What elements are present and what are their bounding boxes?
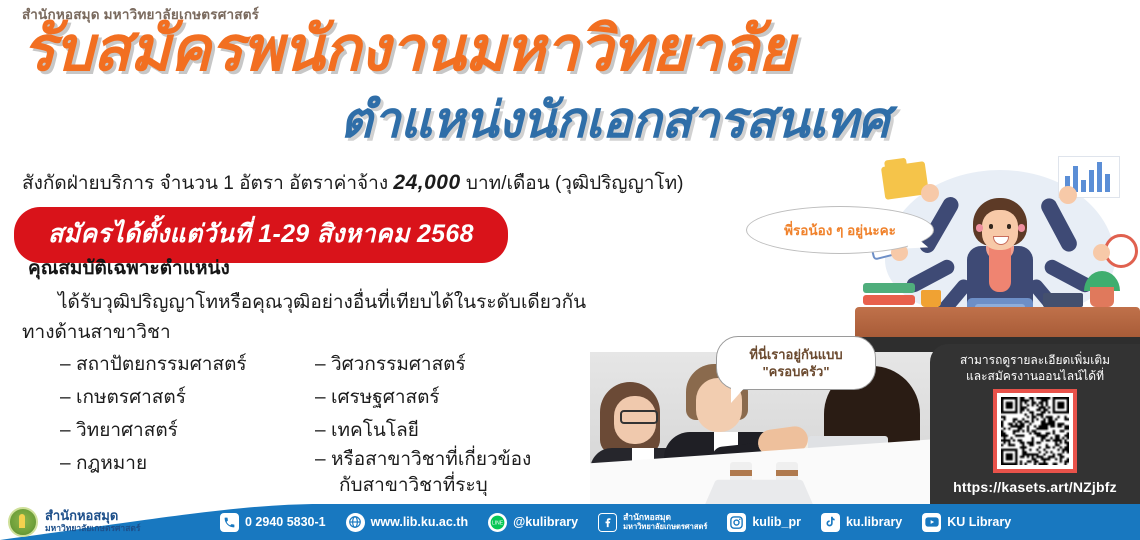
list-item: –กฎหมาย (60, 447, 315, 480)
footer-item-youtube[interactable]: KU Library (922, 513, 1011, 532)
chart-bar (1097, 162, 1102, 192)
footer-logo-line1: สำนักหอสมุด (45, 510, 140, 521)
keyboard-icon (1043, 293, 1083, 307)
coffee-mug-icon (921, 290, 941, 307)
list-dash: – (315, 414, 331, 447)
major-label: เกษตรศาสตร์ (76, 381, 186, 414)
footer-instagram-label: kulib_pr (752, 515, 801, 529)
major-label: เทคโนโลยี (331, 414, 419, 447)
book-red (863, 295, 915, 305)
list-dash: – (315, 447, 331, 499)
footer-item-instagram[interactable]: kulib_pr (727, 513, 801, 532)
footer-logo: สำนักหอสมุด มหาวิทยาลัยเกษตรศาสตร์ (8, 507, 198, 537)
major-label-multiline: หรือสาขาวิชาที่เกี่ยวข้อง กับสาขาวิชาที่… (331, 447, 531, 499)
qr-caption-line2: และสมัครงานออนไลน์ได้ที่ (966, 368, 1104, 384)
eye-left (989, 224, 993, 229)
hand-upper-right (1059, 186, 1077, 204)
list-item: –เศรษฐศาสตร์ (315, 381, 575, 414)
salary-suffix: บาท/เดือน (วุฒิปริญญาโท) (461, 173, 684, 194)
instagram-icon (727, 513, 746, 532)
facebook-icon (598, 513, 617, 532)
major-label-line2: กับสาขาวิชาที่ระบุ (331, 473, 531, 499)
list-dash: – (60, 381, 76, 414)
qr-caption-line1: สามารถดูรายละเอียดเพิ่มเติม (960, 352, 1110, 368)
chart-bar (1081, 180, 1086, 192)
speech-bubble-team: ที่นี่เราอยู่กันแบบ "ครอบครัว" (716, 336, 876, 390)
footer-logo-text: สำนักหอสมุด มหาวิทยาลัยเกษตรศาสตร์ (45, 510, 140, 534)
office-worker-illustration (855, 150, 1140, 355)
svg-text:LINE: LINE (492, 520, 504, 526)
qualification-heading: คุณสมบัติเฉพาะตำแหน่ง (28, 253, 230, 283)
ku-seal-icon (8, 507, 38, 537)
list-item: –วิศวกรรมศาสตร์ (315, 348, 575, 381)
list-item: –วิทยาศาสตร์ (60, 414, 315, 447)
footer-facebook-line1: สำนักหอสมุด (623, 512, 707, 522)
major-column-right: –วิศวกรรมศาสตร์ –เศรษฐศาสตร์ –เทคโนโลยี … (315, 348, 575, 499)
list-dash: – (60, 414, 76, 447)
list-item: –เทคโนโลยี (315, 414, 575, 447)
page-title-line1: รับสมัครพนักงานมหาวิทยาลัย (22, 16, 793, 84)
major-label: เศรษฐศาสตร์ (331, 381, 440, 414)
page-title-line2: ตำแหน่งนักเอกสารสนเทศ (340, 92, 889, 148)
list-dash: – (315, 348, 331, 381)
footer-logo-line2: มหาวิทยาลัยเกษตรศาสตร์ (45, 523, 140, 534)
chart-bar (1089, 170, 1094, 192)
footer-facebook-label: สำนักหอสมุด มหาวิทยาลัยเกษตรศาสตร์ (623, 512, 707, 532)
footer-youtube-label: KU Library (947, 515, 1011, 529)
list-item: –เกษตรศาสตร์ (60, 381, 315, 414)
footer-phone-label: 0 2940 5830-1 (245, 515, 326, 529)
qr-code-canvas[interactable] (1001, 397, 1069, 465)
earring-right (1018, 224, 1025, 232)
salary-amount: 24,000 (393, 171, 460, 194)
major-label: วิทยาศาสตร์ (76, 414, 178, 447)
qualification-body: ได้รับวุฒิปริญญาโทหรือคุณวุฒิอย่างอื่นที… (22, 288, 662, 348)
shirt (989, 246, 1011, 292)
footer-item-facebook[interactable]: สำนักหอสมุด มหาวิทยาลัยเกษตรศาสตร์ (598, 512, 707, 532)
footer-website-label: www.lib.ku.ac.th (371, 515, 468, 529)
recruitment-poster: สำนักหอสมุด มหาวิทยาลัยเกษตรศาสตร์ รับสม… (0, 0, 1140, 540)
book-green (863, 283, 915, 293)
major-label: สถาปัตยกรรมศาสตร์ (76, 348, 247, 381)
footer-item-phone[interactable]: 0 2940 5830-1 (220, 513, 326, 532)
tiktok-icon (821, 513, 840, 532)
list-dash: – (60, 348, 76, 381)
application-date-label: สมัครได้ตั้งแต่วันที่ 1-29 สิงหาคม 2568 (48, 220, 474, 248)
salary-prefix: สังกัดฝ่ายบริการ จำนวน 1 อัตรา อัตราค่าจ… (22, 173, 393, 194)
footer-tiktok-label: ku.library (846, 515, 902, 529)
hand-upper-left (921, 184, 939, 202)
footer-item-website[interactable]: www.lib.ku.ac.th (346, 513, 468, 532)
globe-icon (346, 513, 365, 532)
speech-bubble-team-line2: "ครอบครัว" (762, 363, 829, 380)
major-label: วิศวกรรมศาสตร์ (331, 348, 466, 381)
plant-pot (1090, 287, 1114, 307)
footer-item-tiktok[interactable]: ku.library (821, 513, 902, 532)
hand-mid-right (1093, 244, 1110, 261)
qualification-body-line2: ทางด้านสาขาวิชา (22, 322, 171, 343)
speech-bubble-recruiter: พี่รอน้อง ๆ อยู่นะคะ (746, 206, 934, 254)
list-dash: – (315, 381, 331, 414)
application-url[interactable]: https://kasets.art/NZjbfz (953, 479, 1117, 495)
footer-contact-list: สำนักหอสมุด มหาวิทยาลัยเกษตรศาสตร์ 0 294… (0, 504, 1140, 540)
earring-left (976, 224, 983, 232)
phone-icon (220, 513, 239, 532)
qr-code[interactable] (993, 389, 1077, 473)
list-item: – หรือสาขาวิชาที่เกี่ยวข้อง กับสาขาวิชาท… (315, 447, 575, 499)
eyeglasses-icon (620, 410, 658, 424)
footer-line-label: @kulibrary (513, 515, 578, 529)
desk-surface (855, 307, 1140, 337)
salary-line: สังกัดฝ่ายบริการ จำนวน 1 อัตรา อัตราค่าจ… (22, 168, 684, 198)
speech-bubble-recruiter-text: พี่รอน้อง ๆ อยู่นะคะ (784, 219, 896, 241)
qr-info-card: สามารถดูรายละเอียดเพิ่มเติม และสมัครงานอ… (930, 344, 1140, 510)
chart-bar (1105, 174, 1110, 192)
footer-item-line[interactable]: LINE @kulibrary (488, 513, 578, 532)
youtube-icon (922, 513, 941, 532)
qualification-body-line1: ได้รับวุฒิปริญญาโทหรือคุณวุฒิอย่างอื่นที… (58, 292, 586, 313)
line-icon: LINE (488, 513, 507, 532)
major-label-line1: หรือสาขาวิชาที่เกี่ยวข้อง (331, 449, 531, 470)
major-column-left: –สถาปัตยกรรมศาสตร์ –เกษตรศาสตร์ –วิทยาศา… (60, 348, 315, 499)
footer-facebook-line2: มหาวิทยาลัยเกษตรศาสตร์ (623, 522, 707, 532)
major-label: กฎหมาย (76, 447, 147, 480)
list-dash: – (60, 447, 76, 480)
speech-bubble-team-line1: ที่นี่เราอยู่กันแบบ (749, 346, 842, 363)
eye-right (1007, 224, 1011, 229)
major-lists: –สถาปัตยกรรมศาสตร์ –เกษตรศาสตร์ –วิทยาศา… (60, 348, 575, 499)
list-item: –สถาปัตยกรรมศาสตร์ (60, 348, 315, 381)
